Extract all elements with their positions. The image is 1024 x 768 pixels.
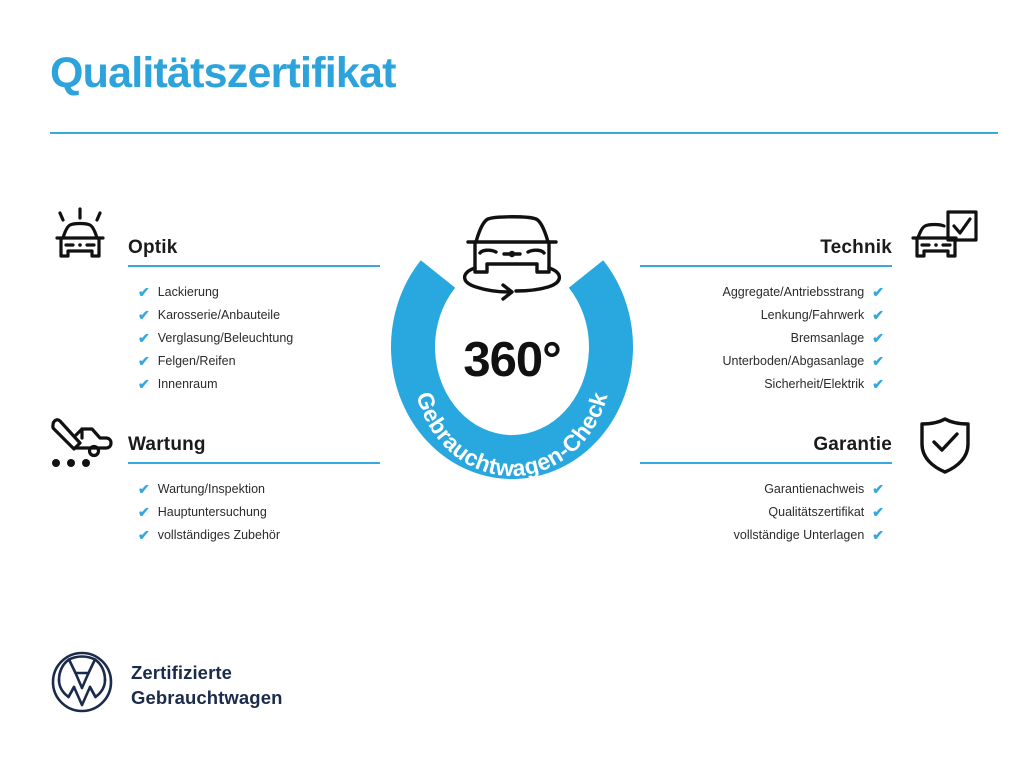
- check-icon: ✔: [138, 308, 150, 322]
- vw-roundel-logo: [50, 650, 114, 719]
- list-item: ✔Sicherheit/Elektrik: [640, 373, 892, 396]
- checklist-optik: ✔Lackierung ✔Karosserie/Anbauteile ✔Verg…: [128, 281, 380, 396]
- list-item: ✔Lackierung: [128, 281, 380, 304]
- car-rotate-360-icon: [465, 217, 560, 299]
- check-icon: ✔: [872, 354, 884, 368]
- list-item-label: Unterboden/Abgasanlage: [722, 350, 864, 373]
- list-item-label: Garantienachweis: [764, 478, 864, 501]
- section-heading-technik: Technik: [640, 238, 892, 259]
- list-item: ✔vollständige Unterlagen: [640, 524, 892, 547]
- check-icon: ✔: [872, 377, 884, 391]
- checklist-technik: ✔Aggregate/Antriebsstrang ✔Lenkung/Fahrw…: [640, 281, 892, 396]
- section-technik: Technik ✔Aggregate/Antriebsstrang ✔Lenku…: [640, 238, 892, 396]
- check-icon: ✔: [872, 285, 884, 299]
- list-item: ✔vollständiges Zubehör: [128, 524, 380, 547]
- wrench-car-service-icon: [46, 413, 116, 478]
- list-item-label: vollständiges Zubehör: [158, 524, 280, 547]
- list-item-label: vollständige Unterlagen: [734, 524, 865, 547]
- badge-360-gebrauchtwagen-check: Gebrauchtwagen-Check 360°: [376, 196, 648, 504]
- list-item-label: Hauptuntersuchung: [158, 501, 267, 524]
- section-heading-wartung: Wartung: [128, 435, 380, 456]
- list-item: ✔Karosserie/Anbauteile: [128, 304, 380, 327]
- section-optik: Optik ✔Lackierung ✔Karosserie/Anbauteile…: [128, 238, 380, 396]
- list-item: ✔Felgen/Reifen: [128, 350, 380, 373]
- check-icon: ✔: [138, 482, 150, 496]
- check-icon: ✔: [138, 285, 150, 299]
- list-item-label: Verglasung/Beleuchtung: [158, 327, 294, 350]
- list-item-label: Wartung/Inspektion: [158, 478, 265, 501]
- check-icon: ✔: [872, 482, 884, 496]
- list-item-label: Aggregate/Antriebsstrang: [723, 281, 865, 304]
- list-item: ✔Bremsanlage: [640, 327, 892, 350]
- section-rule-technik: [640, 265, 892, 267]
- check-icon: ✔: [138, 377, 150, 391]
- list-item: ✔Hauptuntersuchung: [128, 501, 380, 524]
- section-heading-optik: Optik: [128, 238, 380, 259]
- list-item: ✔Verglasung/Beleuchtung: [128, 327, 380, 350]
- list-item-label: Innenraum: [158, 373, 218, 396]
- badge-value: 360°: [376, 336, 648, 385]
- list-item-label: Qualitätszertifikat: [768, 501, 864, 524]
- check-icon: ✔: [138, 354, 150, 368]
- list-item: ✔Qualitätszertifikat: [640, 501, 892, 524]
- check-icon: ✔: [138, 528, 150, 542]
- car-front-shine-icon: [46, 204, 114, 271]
- check-icon: ✔: [872, 505, 884, 519]
- footer-line-2: Gebrauchtwagen: [131, 685, 283, 710]
- section-heading-garantie: Garantie: [640, 435, 892, 456]
- list-item-label: Bremsanlage: [791, 327, 865, 350]
- footer-line-1: Zertifizierte: [131, 660, 283, 685]
- list-item: ✔Innenraum: [128, 373, 380, 396]
- section-rule-optik: [128, 265, 380, 267]
- section-garantie: Garantie ✔Garantienachweis ✔Qualitätszer…: [640, 435, 892, 547]
- list-item-label: Lenkung/Fahrwerk: [761, 304, 865, 327]
- list-item-label: Felgen/Reifen: [158, 350, 236, 373]
- shield-check-icon: [916, 414, 974, 481]
- header-divider: [50, 132, 998, 134]
- checklist-garantie: ✔Garantienachweis ✔Qualitätszertifikat ✔…: [640, 478, 892, 547]
- list-item: ✔Unterboden/Abgasanlage: [640, 350, 892, 373]
- footer-text: Zertifizierte Gebrauchtwagen: [131, 660, 283, 710]
- check-icon: ✔: [872, 331, 884, 345]
- list-item-label: Sicherheit/Elektrik: [764, 373, 864, 396]
- list-item: ✔Wartung/Inspektion: [128, 478, 380, 501]
- check-icon: ✔: [138, 331, 150, 345]
- list-item-label: Karosserie/Anbauteile: [158, 304, 280, 327]
- list-item: ✔Aggregate/Antriebsstrang: [640, 281, 892, 304]
- section-wartung: Wartung ✔Wartung/Inspektion ✔Hauptunters…: [128, 435, 380, 547]
- check-icon: ✔: [138, 505, 150, 519]
- list-item-label: Lackierung: [158, 281, 219, 304]
- vw-certified-footer: Zertifizierte Gebrauchtwagen: [50, 650, 283, 719]
- page-title: Qualitätszertifikat: [50, 52, 396, 95]
- section-rule-garantie: [640, 462, 892, 464]
- check-icon: ✔: [872, 528, 884, 542]
- car-front-checkbox-icon: [908, 208, 980, 273]
- list-item: ✔Garantienachweis: [640, 478, 892, 501]
- section-rule-wartung: [128, 462, 380, 464]
- check-icon: ✔: [872, 308, 884, 322]
- list-item: ✔Lenkung/Fahrwerk: [640, 304, 892, 327]
- checklist-wartung: ✔Wartung/Inspektion ✔Hauptuntersuchung ✔…: [128, 478, 380, 547]
